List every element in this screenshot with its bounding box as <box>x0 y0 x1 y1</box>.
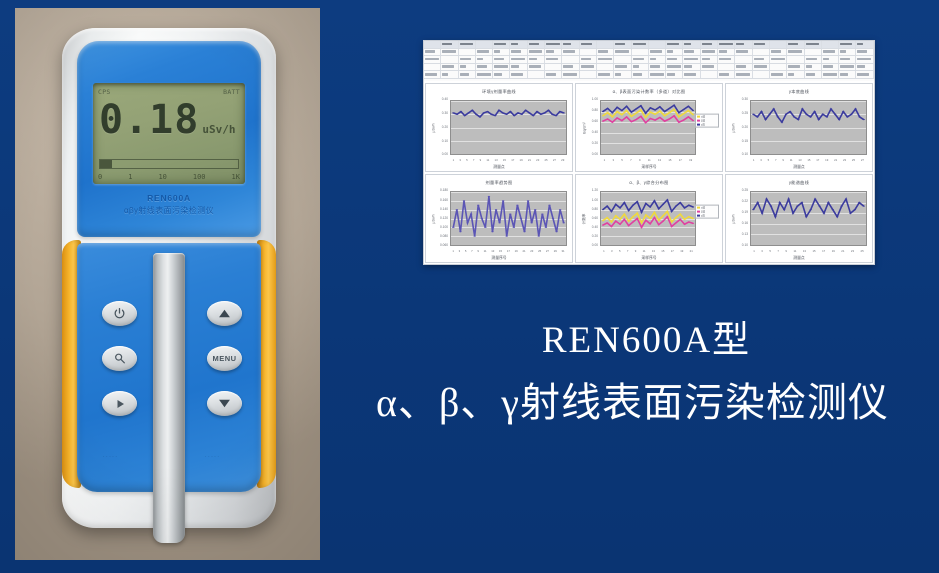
chart-x-axis-label: 测量点 <box>426 165 572 170</box>
spreadsheet-cell-text <box>719 58 731 61</box>
spreadsheet-cell[interactable] <box>822 71 839 78</box>
chart-x-tick: 15 <box>668 158 671 162</box>
chart-data-point <box>793 116 796 117</box>
chart-x-tick: 13 <box>798 158 801 162</box>
spreadsheet-cell-text <box>581 65 595 68</box>
chart-data-point <box>858 116 861 117</box>
chart-data-point <box>645 203 647 204</box>
spreadsheet-cell[interactable] <box>753 41 770 48</box>
spreadsheet-cell-text <box>529 50 543 53</box>
spreadsheet-cell[interactable] <box>493 49 510 56</box>
spreadsheet-cell[interactable] <box>701 56 718 63</box>
chart-data-point <box>610 221 612 222</box>
chart-data-point <box>491 231 494 232</box>
spreadsheet-cell[interactable] <box>424 49 441 56</box>
spreadsheet-cell[interactable] <box>666 64 683 71</box>
spreadsheet-cell[interactable] <box>735 56 752 63</box>
chart-data-point <box>635 108 637 109</box>
spreadsheet-cell-text <box>477 73 491 76</box>
spreadsheet-cell[interactable] <box>459 64 476 71</box>
spreadsheet-cell[interactable] <box>683 49 700 56</box>
chart-data-point <box>619 224 621 225</box>
spreadsheet-cell[interactable] <box>649 71 666 78</box>
chart-panel[interactable]: α、β、γ综合分布图计数率1.201.000.800.600.400.200.0… <box>575 174 723 263</box>
chart-y-tick: 0.160 <box>435 198 448 202</box>
spreadsheet-cell-text <box>511 43 517 46</box>
chart-gridline <box>451 154 566 155</box>
chart-data-point <box>683 109 685 110</box>
chart-data-point <box>632 205 634 206</box>
chart-x-tick: 17 <box>511 158 514 162</box>
spreadsheet-cell[interactable] <box>805 71 822 78</box>
chart-x-tick: 7 <box>471 249 473 253</box>
spreadsheet-cell-text <box>511 73 523 76</box>
spreadsheet-cell[interactable] <box>580 64 597 71</box>
spreadsheet-cell-text <box>736 65 746 68</box>
chart-plot-area <box>600 100 696 155</box>
spreadsheet-cell[interactable] <box>805 41 822 48</box>
chart-plot-area <box>450 100 567 155</box>
lcd-value: 0.18 <box>99 100 199 140</box>
page-subtitle: α、β、γ射线表面污染检测仪 <box>330 381 935 426</box>
chart-x-tick: 3 <box>459 158 461 162</box>
spreadsheet-cell[interactable] <box>701 71 718 78</box>
spreadsheet-cell[interactable] <box>424 41 441 48</box>
spreadsheet-cell[interactable] <box>459 71 476 78</box>
chart-data-point <box>645 117 647 118</box>
chart-data-point <box>756 202 759 203</box>
spreadsheet-cell[interactable] <box>718 56 735 63</box>
chart-data-point <box>801 108 804 109</box>
spreadsheet-cell[interactable] <box>632 56 649 63</box>
spreadsheet-cell[interactable] <box>597 71 614 78</box>
chart-y-tick: 0.30 <box>435 111 448 115</box>
spreadsheet-cell[interactable] <box>614 64 631 71</box>
spreadsheet-cell[interactable] <box>649 49 666 56</box>
lcd-scale-ticks: 0 1 10 100 1K <box>98 171 240 182</box>
spreadsheet-cell[interactable] <box>666 71 683 78</box>
chart-series-line <box>753 199 863 217</box>
spreadsheet-cell[interactable] <box>510 49 527 56</box>
chart-data-point <box>615 204 617 205</box>
chart-data-point <box>679 214 681 215</box>
spreadsheet-cell[interactable] <box>614 71 631 78</box>
chart-data-point <box>671 221 673 222</box>
chart-data-point <box>662 221 664 222</box>
spreadsheet-cell[interactable] <box>735 49 752 56</box>
spreadsheet-cell[interactable] <box>770 71 787 78</box>
down-button[interactable] <box>207 391 242 416</box>
chart-data-point <box>692 206 694 207</box>
spreadsheet-cell[interactable] <box>580 56 597 63</box>
spreadsheet-cell[interactable] <box>683 64 700 71</box>
spreadsheet-cell-text <box>754 58 764 61</box>
device-branding: REN600A αβγ射线表面污染检测仪 <box>77 193 261 216</box>
spreadsheet-cell[interactable] <box>839 49 856 56</box>
spreadsheet-cell-text <box>667 58 677 61</box>
spreadsheet-cell[interactable] <box>545 41 562 48</box>
chart-data-point <box>659 110 661 111</box>
spreadsheet-cell[interactable] <box>562 49 579 56</box>
chart-data-point <box>673 109 675 110</box>
spreadsheet-cell[interactable] <box>701 49 718 56</box>
chart-data-point <box>836 216 839 217</box>
chart-x-tick: 3 <box>611 249 613 253</box>
spreadsheet-cell[interactable] <box>770 41 787 48</box>
chart-data-point <box>654 109 656 110</box>
spreadsheet-cell[interactable] <box>735 64 752 71</box>
chart-x-tick: 15 <box>499 249 502 253</box>
spreadsheet-cell-text <box>494 73 502 76</box>
spreadsheet-cell[interactable] <box>839 41 856 48</box>
spreadsheet-cell-text <box>615 65 627 68</box>
spreadsheet-cell-text <box>460 65 466 68</box>
spreadsheet-cell[interactable] <box>822 56 839 63</box>
chart-data-point <box>606 217 608 218</box>
spreadsheet-cell[interactable] <box>493 64 510 71</box>
chart-data-point <box>770 206 773 207</box>
chart-y-tick: 0.25 <box>735 188 748 192</box>
chart-panel[interactable]: γ本底曲线μSv/h0.300.250.200.150.101357911131… <box>725 83 873 172</box>
arrow-up-icon <box>218 308 231 319</box>
chart-data-point <box>645 214 647 215</box>
chart-data-point <box>636 218 638 219</box>
spreadsheet-cell[interactable] <box>805 56 822 63</box>
spreadsheet-cell[interactable] <box>441 64 458 71</box>
spreadsheet-cell[interactable] <box>476 41 493 48</box>
spreadsheet-cell[interactable] <box>822 49 839 56</box>
spreadsheet-cell[interactable] <box>510 64 527 71</box>
spreadsheet-cell[interactable] <box>683 56 700 63</box>
spreadsheet-cell[interactable] <box>580 71 597 78</box>
spreadsheet-cell[interactable] <box>441 71 458 78</box>
spreadsheet-cell[interactable] <box>718 41 735 48</box>
chart-data-point <box>517 112 520 113</box>
chart-plot-area <box>750 191 867 246</box>
up-button[interactable] <box>207 301 242 326</box>
spreadsheet-cell[interactable] <box>666 49 683 56</box>
menu-button[interactable]: MENU <box>207 346 242 371</box>
spreadsheet-cell[interactable] <box>805 64 822 71</box>
spreadsheet-cell[interactable] <box>493 56 510 63</box>
chart-data-point <box>678 122 680 123</box>
play-icon <box>114 398 126 410</box>
chart-data-point <box>619 207 621 208</box>
chart-x-tick: 5 <box>768 158 770 162</box>
spreadsheet-cell[interactable] <box>666 56 683 63</box>
spreadsheet-cell[interactable] <box>597 41 614 48</box>
spreadsheet-cell-text <box>633 58 645 61</box>
spreadsheet-cell[interactable] <box>753 49 770 56</box>
chart-y-tick: 0.10 <box>735 243 748 247</box>
spreadsheet-cell[interactable] <box>753 71 770 78</box>
chart-data-point <box>692 218 694 219</box>
spreadsheet-cell-text <box>684 73 696 76</box>
spreadsheet-cell[interactable] <box>476 49 493 56</box>
lcd-unit: uSv/h <box>202 123 235 136</box>
spreadsheet-cell-text <box>563 50 575 53</box>
spreadsheet-cell[interactable] <box>787 41 804 48</box>
spreadsheet-cell[interactable] <box>856 64 873 71</box>
chart-data-point <box>456 209 459 210</box>
spreadsheet-cell[interactable] <box>787 56 804 63</box>
chart-data-point <box>534 209 537 210</box>
chart-data-point <box>615 221 617 222</box>
chart-x-tick: 9 <box>635 249 637 253</box>
chart-data-point <box>606 222 608 223</box>
spreadsheet-cell[interactable] <box>649 56 666 63</box>
spreadsheet-cell[interactable] <box>735 41 752 48</box>
spreadsheet-cell[interactable] <box>562 71 579 78</box>
spreadsheet-cell[interactable] <box>441 56 458 63</box>
chart-data-point <box>641 222 643 223</box>
chart-x-tick: 1 <box>603 249 605 253</box>
spreadsheet-cell[interactable] <box>787 49 804 56</box>
chart-data-point <box>490 114 493 115</box>
chart-data-point <box>666 216 668 217</box>
lcd-bargraph <box>99 159 239 169</box>
chart-x-tick: 13 <box>495 158 498 162</box>
spreadsheet-cell-text <box>581 58 591 61</box>
chart-data-point <box>658 224 660 225</box>
search-button[interactable] <box>102 346 137 371</box>
chart-x-tick: 15 <box>661 249 664 253</box>
spreadsheet-cell[interactable] <box>735 71 752 78</box>
spreadsheet-cell[interactable] <box>580 49 597 56</box>
spreadsheet-cell[interactable] <box>614 49 631 56</box>
spreadsheet-cell[interactable] <box>493 71 510 78</box>
spreadsheet-cell[interactable] <box>476 56 493 63</box>
spreadsheet-cell[interactable] <box>614 41 631 48</box>
spreadsheet-cell[interactable] <box>614 56 631 63</box>
spreadsheet-cell-text <box>754 65 768 68</box>
chart-data-point <box>602 111 604 112</box>
chart-data-point <box>482 112 485 113</box>
spreadsheet-cell[interactable] <box>459 41 476 48</box>
spreadsheet-cell[interactable] <box>839 56 856 63</box>
chart-data-point <box>484 227 487 228</box>
spreadsheet-cell[interactable] <box>822 41 839 48</box>
spreadsheet-cell[interactable] <box>839 64 856 71</box>
chart-x-tick: 15 <box>807 158 810 162</box>
chart-data-point <box>628 225 630 226</box>
spreadsheet-cell[interactable] <box>510 56 527 63</box>
spreadsheet-cell[interactable] <box>528 56 545 63</box>
chart-legend: α道β道γ道 <box>695 113 719 128</box>
chart-data-point <box>688 216 690 217</box>
spreadsheet-cell[interactable] <box>545 49 562 56</box>
chart-data-point <box>505 114 508 115</box>
spreadsheet-cell[interactable] <box>666 41 683 48</box>
spreadsheet-cell-text <box>563 43 571 46</box>
spreadsheet-cell-text <box>442 43 452 46</box>
chart-data-point <box>645 220 647 221</box>
chart-y-tick: 0.25 <box>735 111 748 115</box>
spreadsheet-cell[interactable] <box>476 71 493 78</box>
spreadsheet-cell[interactable] <box>683 71 700 78</box>
spreadsheet-cell[interactable] <box>718 49 735 56</box>
spreadsheet-cell[interactable] <box>459 56 476 63</box>
spreadsheet-cell[interactable] <box>718 71 735 78</box>
chart-x-tick: 27 <box>861 158 864 162</box>
chart-y-tick: 0.20 <box>435 125 448 129</box>
spreadsheet-cell[interactable] <box>562 56 579 63</box>
chart-data-point <box>675 206 677 207</box>
spreadsheet-cell[interactable] <box>683 41 700 48</box>
chart-data-point <box>783 209 786 210</box>
spreadsheet-cell[interactable] <box>562 64 579 71</box>
chart-data-point <box>654 114 656 115</box>
spreadsheet-cell[interactable] <box>718 64 735 71</box>
chart-x-tick: 11 <box>643 249 646 253</box>
chart-panel[interactable]: 环境γ剂量率曲线μSv/h0.400.300.200.100.001357911… <box>425 83 573 172</box>
spreadsheet-cell-text <box>546 58 558 61</box>
spreadsheet-cell[interactable] <box>701 41 718 48</box>
chart-data-point <box>545 227 548 228</box>
chart-data-point <box>814 198 817 199</box>
chart-data-point <box>779 202 782 203</box>
spreadsheet-cell[interactable] <box>753 64 770 71</box>
slide-canvas: CPS BATT 0.18 uSv/h 0 1 10 100 1K <box>0 0 939 573</box>
spreadsheet-cell[interactable] <box>787 64 804 71</box>
chart-data-point <box>846 116 849 117</box>
chart-legend-swatch <box>697 116 700 118</box>
spreadsheet-cell[interactable] <box>476 64 493 71</box>
chart-data-point <box>523 231 526 232</box>
spreadsheet-cell-text <box>788 50 802 53</box>
spreadsheet-cell[interactable] <box>510 41 527 48</box>
chart-data-point <box>818 206 821 207</box>
chart-data-point <box>530 222 533 223</box>
spreadsheet-cell[interactable] <box>459 49 476 56</box>
chart-x-tick: 11 <box>648 158 651 162</box>
spreadsheet-cell-text <box>633 65 639 68</box>
chart-data-point <box>645 113 647 114</box>
spreadsheet-cell[interactable] <box>787 71 804 78</box>
spreadsheet-cell[interactable] <box>701 64 718 71</box>
chart-series-line <box>753 109 863 122</box>
chart-gridline <box>601 245 695 246</box>
spreadsheet-cell[interactable] <box>597 49 614 56</box>
chart-data-point <box>858 202 861 203</box>
spreadsheet-cell[interactable] <box>597 64 614 71</box>
spreadsheet-cell[interactable] <box>753 56 770 63</box>
spreadsheet-cell[interactable] <box>510 71 527 78</box>
chart-x-tick: 1 <box>604 158 606 162</box>
lcd-bargraph-fill <box>100 160 112 168</box>
lcd-battery-indicator: BATT <box>223 88 240 96</box>
spreadsheet-cell-text <box>460 58 472 61</box>
spreadsheet-cell[interactable] <box>580 41 597 48</box>
chart-x-axis: 135791113151719212325272931 <box>450 249 567 255</box>
spreadsheet-cell[interactable] <box>649 41 666 48</box>
chart-data-point <box>466 222 469 223</box>
chart-panel[interactable]: 剂量率趋势图μSv/h0.1800.1600.1400.1200.1000.08… <box>425 174 573 263</box>
spreadsheet-cell[interactable] <box>822 64 839 71</box>
spreadsheet-cell[interactable] <box>770 49 787 56</box>
spreadsheet-cell[interactable] <box>528 41 545 48</box>
spreadsheet-cell[interactable] <box>493 41 510 48</box>
chart-x-tick: 25 <box>852 158 855 162</box>
spreadsheet-cell-text <box>736 73 750 76</box>
chart-legend-item: γ道 <box>697 122 717 126</box>
chart-x-tick: 5 <box>621 158 623 162</box>
spreadsheet-cell[interactable] <box>839 71 856 78</box>
spreadsheet-cell[interactable] <box>856 49 873 56</box>
chart-data-point <box>630 121 632 122</box>
spreadsheet-cell[interactable] <box>424 64 441 71</box>
chart-data-point <box>562 112 565 113</box>
chart-x-tick: 25 <box>538 249 541 253</box>
chart-data-point <box>551 114 554 115</box>
spreadsheet-cell[interactable] <box>856 56 873 63</box>
spreadsheet-cell[interactable] <box>770 64 787 71</box>
chart-legend-swatch <box>697 211 700 213</box>
spreadsheet-cell[interactable] <box>424 56 441 63</box>
spreadsheet-cell[interactable] <box>545 56 562 63</box>
chart-x-tick: 19 <box>520 158 523 162</box>
chart-data-point <box>653 200 655 201</box>
chart-data-point <box>683 207 685 208</box>
spreadsheet-row <box>424 71 874 79</box>
spreadsheet-cell[interactable] <box>805 49 822 56</box>
spreadsheet-cell[interactable] <box>441 41 458 48</box>
chart-data-point <box>653 212 655 213</box>
spreadsheet-cell[interactable] <box>441 49 458 56</box>
spreadsheet-cell[interactable] <box>545 64 562 71</box>
spreadsheet-cell[interactable] <box>632 64 649 71</box>
spreadsheet-cell[interactable] <box>424 71 441 78</box>
lcd-tick-3: 100 <box>193 173 206 181</box>
chart-x-tick: 19 <box>515 249 518 253</box>
chart-data-point <box>538 236 541 237</box>
chart-panel[interactable]: γ能谱曲线μSv/h0.250.220.190.160.130.10135791… <box>725 174 873 263</box>
spreadsheet-cell[interactable] <box>528 71 545 78</box>
device-faceplate-top: CPS BATT 0.18 uSv/h 0 1 10 100 1K <box>77 41 261 237</box>
spreadsheet-cell[interactable] <box>856 71 873 78</box>
chart-x-axis: 1357911131517192123252729 <box>450 158 567 164</box>
chart-data-point <box>626 116 628 117</box>
spreadsheet-cell[interactable] <box>632 49 649 56</box>
spreadsheet-cell[interactable] <box>632 71 649 78</box>
spreadsheet-cell[interactable] <box>649 64 666 71</box>
spreadsheet-cell[interactable] <box>632 41 649 48</box>
power-button[interactable] <box>102 301 137 326</box>
spreadsheet-cell[interactable] <box>562 41 579 48</box>
chart-x-tick: 1 <box>452 249 454 253</box>
chart-data-point <box>623 214 625 215</box>
spreadsheet-cell[interactable] <box>545 71 562 78</box>
spreadsheet-cell[interactable] <box>856 41 873 48</box>
spreadsheet-cell[interactable] <box>597 56 614 63</box>
chart-data-point <box>796 206 799 207</box>
spreadsheet-cell[interactable] <box>770 56 787 63</box>
spreadsheet-cell[interactable] <box>528 64 545 71</box>
spreadsheet-cell[interactable] <box>528 49 545 56</box>
spreadsheet-cell-text <box>667 73 675 76</box>
play-button[interactable] <box>102 391 137 416</box>
chart-data-point <box>452 112 455 113</box>
spreadsheet-header-row <box>424 41 874 49</box>
chart-data-point <box>475 114 478 115</box>
chart-x-tick: 11 <box>793 249 796 253</box>
spreadsheet-cell-text <box>667 50 673 53</box>
spreadsheet-cell-text <box>736 43 744 46</box>
chart-data-point <box>640 109 642 110</box>
device-center-handle <box>153 253 185 543</box>
chart-panel[interactable]: α、β表面污染计数率（多道）对比图Bq/cm²1.000.800.600.400… <box>575 83 723 172</box>
chart-data-point <box>502 112 505 113</box>
